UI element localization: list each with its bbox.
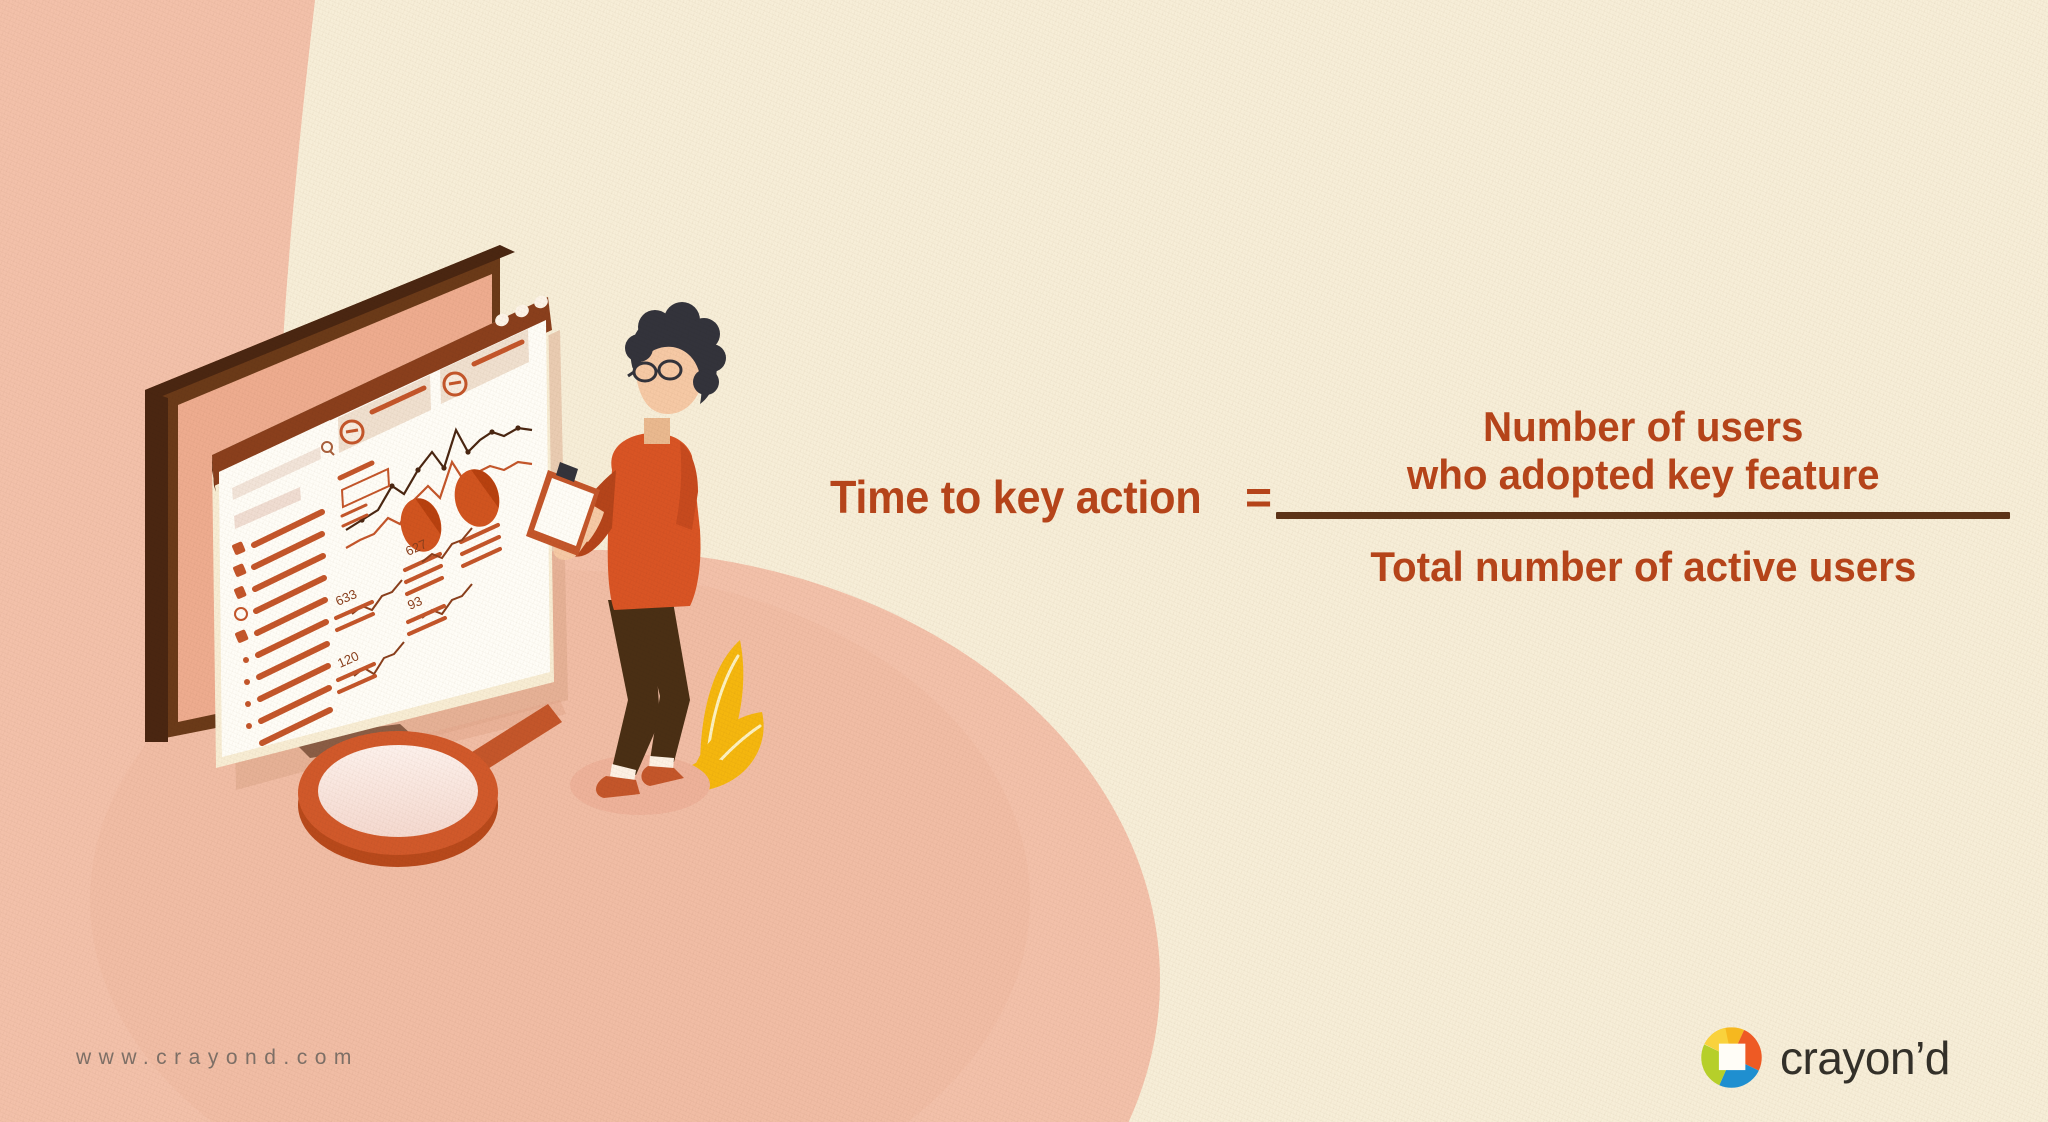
formula-denominator: Total number of active users bbox=[1370, 519, 1916, 591]
brand-logo: crayon’d bbox=[1700, 1026, 1950, 1089]
formula-equals-sign: = bbox=[1243, 470, 1276, 524]
formula-fraction: Number of users who adopted key feature … bbox=[1276, 403, 2010, 592]
browser-sidebar bbox=[219, 420, 334, 757]
formula-numerator-line-2: who adopted key feature bbox=[1407, 451, 1880, 499]
site-url-text: www.crayond.com bbox=[76, 1046, 359, 1070]
crayond-pinwheel-logo-icon bbox=[1700, 1026, 1763, 1089]
poster-canvas: 633 627 120 bbox=[0, 0, 2048, 1122]
formula-divider-line bbox=[1276, 512, 2010, 519]
brand-wordmark: crayon’d bbox=[1780, 1035, 1950, 1081]
formula-left-term: Time to key action bbox=[830, 474, 1218, 520]
formula-block: Time to key action = Number of users who… bbox=[830, 372, 2010, 622]
formula-numerator: Number of users who adopted key feature bbox=[1407, 403, 1880, 513]
monitor-bezel-side bbox=[145, 390, 168, 742]
person-neck bbox=[644, 418, 670, 444]
magnifier-lens bbox=[318, 745, 478, 837]
formula-numerator-line-1: Number of users bbox=[1407, 403, 1880, 451]
